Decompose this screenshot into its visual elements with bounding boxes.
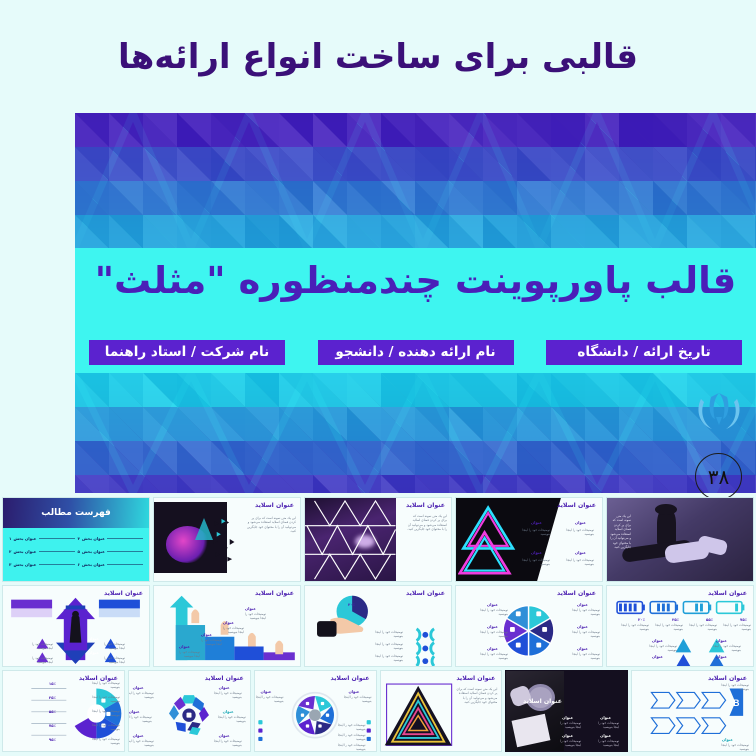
mosaic-triangle — [551, 181, 585, 215]
mosaic-triangle — [143, 475, 177, 493]
mosaic-triangle — [347, 441, 381, 475]
mosaic-triangle — [109, 373, 143, 407]
sub-title: عنوان — [600, 715, 611, 720]
mosaic-triangle — [245, 181, 279, 215]
mosaic-triangle — [381, 475, 415, 493]
sub-title: عنوان — [487, 646, 498, 651]
short-text: توضیحات خود را اینجا بنویسید — [240, 612, 266, 621]
slide-abstract-arrows[interactable]: عنوان اسلاید این یک متن نمونه است که برا… — [153, 497, 301, 582]
step-label: عنوان — [245, 606, 256, 611]
mosaic-triangle — [551, 373, 585, 407]
sub-title: عنوان — [577, 646, 588, 651]
mosaic-triangle — [211, 407, 245, 441]
slide-circle-eight[interactable]: عنوان اسلاید — [128, 670, 251, 752]
arrow-value: ۷۵٪ — [49, 723, 56, 728]
mosaic-triangle — [279, 181, 313, 215]
mosaic-triangle — [415, 181, 449, 215]
mosaic-triangle — [483, 441, 517, 475]
short-text: توضیحات خود را اینجا بنویسید — [478, 652, 508, 661]
short-text: توضیحات خود را اینجا بنویسید — [375, 630, 403, 639]
mosaic-triangle — [143, 147, 177, 181]
sub-title: عنوان — [652, 638, 663, 643]
mosaic-triangle — [245, 475, 279, 493]
short-text: توضیحات خود را اینجا بنویسید — [375, 642, 403, 651]
slide-pie-six[interactable]: عنوان اسلاید عنوان توضیحات خود را اینجا … — [455, 585, 603, 667]
mosaic-triangle — [211, 215, 245, 248]
mosaic-triangle — [347, 475, 381, 493]
mosaic-triangle — [279, 373, 313, 407]
mosaic-triangle — [177, 215, 211, 248]
short-text: توضیحات خود را اینجا بنویسید — [338, 743, 366, 752]
mosaic-triangle — [381, 215, 415, 248]
mosaic-triangle — [619, 147, 653, 181]
short-text: توضیحات خود را اینجا بنویسید — [92, 709, 120, 718]
slide-body-text: این یک متن نمونه است که برای پر کردن فضا… — [453, 687, 497, 705]
mosaic-triangle — [483, 181, 517, 215]
toc-entry: ۲ عنوان بخش — [9, 549, 75, 554]
mosaic-triangle — [381, 113, 415, 147]
slide-arrows-door[interactable]: عنوان اسلاید عنوان — [2, 585, 150, 667]
short-text: توضیحات خود را اینجا بنویسید — [645, 644, 677, 653]
slide-neon-pyramid[interactable]: عنوان اسلاید این یک متن نمونه است که برا… — [380, 670, 503, 752]
mosaic-triangle — [177, 373, 211, 407]
short-text: توضیحات خود را اینجا بنویسید — [721, 683, 749, 692]
sub-title: عنوان — [716, 638, 727, 643]
toc-entry: ۴ عنوان بخش — [78, 536, 144, 541]
mosaic-triangle — [585, 215, 619, 248]
sub-title: عنوان — [652, 654, 663, 659]
sub-title: عنوان — [577, 602, 588, 607]
thumbnail-row-2: عنوان اسلاید — [0, 585, 756, 667]
toc-divider — [39, 538, 75, 539]
mosaic-triangle — [75, 215, 109, 248]
short-text: توضیحات خود را اینجا بنویسید — [555, 739, 581, 748]
toc-number: ۴ — [78, 536, 80, 541]
toc-entry: ۶ عنوان بخش — [78, 562, 144, 567]
mosaic-triangle — [245, 113, 279, 147]
toc-label: عنوان بخش — [82, 536, 105, 541]
short-text: توضیحات خود را اینجا بنویسید — [218, 626, 244, 635]
mosaic-triangle — [483, 373, 517, 407]
toc-number: ۱ — [9, 536, 11, 541]
mosaic-triangle — [313, 475, 347, 493]
sub-title: عنوان — [722, 737, 733, 742]
short-text: توضیحات خود را اینجا بنویسید — [214, 739, 242, 748]
mosaic-triangle — [109, 181, 143, 215]
toc-label: عنوان بخش — [13, 549, 36, 554]
mosaic-triangle — [415, 113, 449, 147]
sub-title: عنوان — [562, 715, 573, 720]
short-text: توضیحات خود را اینجا بنویسید — [520, 558, 550, 567]
sub-title: عنوان — [716, 654, 727, 659]
mosaic-triangle — [245, 407, 279, 441]
toc-number: ۶ — [78, 562, 80, 567]
mosaic-triangle — [211, 181, 245, 215]
mosaic-triangle — [415, 373, 449, 407]
mosaic-triangle — [109, 441, 143, 475]
mosaic-triangle — [517, 147, 551, 181]
toc-divider — [39, 564, 75, 565]
galaxy-triangle-grid — [305, 498, 451, 581]
hero-badge-presenter[interactable]: نام ارائه دهنده / دانشجو — [318, 340, 514, 365]
mosaic-triangle — [347, 113, 381, 147]
sub-title: عنوان — [531, 550, 542, 555]
mosaic-triangle — [177, 147, 211, 181]
mosaic-triangle — [551, 113, 585, 147]
hero-title-strip: قالب پاورپوینت چندمنظوره "مثلث" نام شرکت… — [75, 248, 756, 373]
sub-title: عنوان — [348, 689, 359, 694]
toc-number: ۵ — [78, 549, 80, 554]
mosaic-triangle — [619, 441, 653, 475]
arrow-value: ۵۵٪ — [49, 709, 56, 714]
percent-value: ۳۰٪ — [348, 602, 355, 607]
slide-count-badge: ۳۸ — [695, 453, 742, 500]
short-text: توضیحات خود را اینجا بنویسید — [218, 715, 246, 724]
step-label: عنوان — [223, 620, 234, 625]
mosaic-triangle — [75, 147, 109, 181]
mosaic-triangle — [585, 147, 619, 181]
mosaic-triangle — [619, 181, 653, 215]
short-text: توضیحات خود را اینجا بنویسید — [570, 630, 600, 639]
mosaic-triangle — [585, 373, 619, 407]
short-text: توضیحات خود را اینجا بنویسید — [619, 623, 649, 632]
short-text: توضیحات خود را اینجا بنویسید — [721, 623, 751, 632]
sub-title: عنوان — [260, 689, 271, 694]
mosaic-triangle — [347, 373, 381, 407]
short-text: توضیحات خود را اینجا بنویسید — [478, 608, 508, 617]
mosaic-triangle — [313, 441, 347, 475]
mosaic-triangle — [619, 475, 653, 493]
slide-chess-photo[interactable]: این یک متن نمونه است که برای پر کردن فضا… — [606, 497, 754, 582]
mosaic-triangle — [75, 407, 109, 441]
mosaic-triangle — [279, 215, 313, 248]
mosaic-triangle — [109, 475, 143, 493]
mosaic-triangle — [449, 407, 483, 441]
short-text: توضیحات خود را اینجا بنویسید — [721, 743, 749, 752]
toc-label: عنوان بخش — [82, 549, 105, 554]
short-text: توضیحات خود را اینجا بنویسید — [593, 721, 619, 730]
step-label: عنوان — [179, 644, 190, 649]
short-text: توضیحات خود را اینجا بنویسید — [29, 642, 53, 651]
mosaic-triangle — [313, 373, 347, 407]
short-text: توضیحات خود را اینجا بنویسید — [128, 739, 154, 748]
short-text: توضیحات خود را اینجا بنویسید — [128, 715, 152, 724]
short-text: توضیحات خود را اینجا بنویسید — [564, 558, 594, 567]
short-text: توضیحات خود را اینجا بنویسید — [593, 739, 619, 748]
butterfly-wings-icon — [692, 385, 746, 435]
mosaic-triangle — [279, 407, 313, 441]
short-text: توضیحات خود را اینجا بنویسید — [92, 723, 120, 732]
thumbnail-grid: این یک متن نمونه است که برای پر کردن فضا… — [0, 495, 756, 756]
slide-title: عنوان اسلاید — [406, 502, 445, 509]
short-text: توضیحات خود را اینجا بنویسید — [375, 654, 403, 663]
mosaic-triangle — [585, 113, 619, 147]
mosaic-triangle — [517, 113, 551, 147]
toc-entry: ۵ عنوان بخش — [78, 549, 144, 554]
mosaic-triangle — [177, 113, 211, 147]
mosaic-triangle — [347, 215, 381, 248]
mosaic-triangle — [449, 113, 483, 147]
battery-value: ۵۵٪ — [706, 617, 713, 622]
mosaic-triangle — [619, 113, 653, 147]
mosaic-triangle — [619, 373, 653, 407]
mosaic-triangle — [585, 181, 619, 215]
abstract-arrow-art — [154, 498, 300, 581]
toc-divider — [107, 564, 143, 565]
battery-value: ۳۵٪ — [672, 617, 679, 622]
short-text: توضیحات خود را اینجا بنویسید — [653, 623, 683, 632]
short-text: توضیحات خود را اینجا بنویسید — [101, 642, 125, 651]
mosaic-triangle — [279, 113, 313, 147]
mosaic-triangle — [279, 147, 313, 181]
short-text: توضیحات خود را اینجا بنویسید — [478, 630, 508, 639]
short-text: توضیحات خود را اینجا بنویسید — [101, 656, 125, 665]
sub-title: عنوان — [219, 685, 230, 690]
mosaic-triangle — [143, 113, 177, 147]
mosaic-triangle — [551, 475, 585, 493]
mosaic-triangle — [517, 373, 551, 407]
mosaic-triangle — [551, 147, 585, 181]
toc-label: عنوان بخش — [13, 562, 36, 567]
sub-title: عنوان — [487, 602, 498, 607]
hero-banner: قالب پاورپوینت چندمنظوره "مثلث" نام شرکت… — [75, 113, 756, 493]
mosaic-triangle — [381, 181, 415, 215]
slide-body-text: این یک متن نمونه است که برای پر کردن فضا… — [609, 514, 631, 550]
toc-row[interactable]: ۱ عنوان بخش ۴ عنوان بخش — [9, 532, 143, 545]
mosaic-triangle — [313, 215, 347, 248]
short-text: توضیحات خود را اینجا بنویسید — [570, 608, 600, 617]
arrow-door-infographic — [3, 586, 149, 666]
mosaic-triangle — [415, 215, 449, 248]
mosaic-triangle — [449, 373, 483, 407]
arrow-value: ۱۵٪ — [49, 681, 56, 686]
mosaic-triangle — [619, 215, 653, 248]
mosaic-triangle — [143, 373, 177, 407]
short-text: توضیحات خود را اینجا بنویسید — [520, 528, 550, 537]
sub-title: عنوان — [600, 733, 611, 738]
toc-body: ۱ عنوان بخش ۴ عنوان بخش ۲ عنوان بخش — [3, 528, 149, 581]
mosaic-triangle — [619, 407, 653, 441]
slide-battery-meters[interactable]: عنوان اسلاید — [606, 585, 754, 667]
slide-title: عنوان اسلاید — [255, 502, 294, 509]
mosaic-triangle — [381, 147, 415, 181]
mosaic-triangle — [75, 475, 109, 493]
short-text: توضیحات خود را اینجا بنویسید — [555, 721, 581, 730]
mosaic-triangle — [177, 407, 211, 441]
mosaic-triangle — [449, 181, 483, 215]
mosaic-triangle — [143, 441, 177, 475]
mosaic-triangle — [279, 475, 313, 493]
mosaic-triangle — [381, 441, 415, 475]
hero-title: قالب پاورپوینت چندمنظوره "مثلث" — [95, 258, 737, 304]
short-text: توضیحات خود را اینجا بنویسید — [174, 650, 200, 659]
mosaic-triangle — [347, 407, 381, 441]
mosaic-triangle — [517, 215, 551, 248]
toc-label: عنوان بخش — [82, 562, 105, 567]
mosaic-triangle — [585, 475, 619, 493]
mosaic-triangle — [517, 181, 551, 215]
hero-badge-company[interactable]: نام شرکت / استاد راهنما — [89, 340, 285, 365]
mosaic-triangle — [109, 113, 143, 147]
mosaic-triangle — [279, 441, 313, 475]
short-text: توضیحات خود را اینجا بنویسید — [196, 638, 222, 647]
mosaic-triangle — [245, 147, 279, 181]
short-text: توضیحات خود را اینجا بنویسید — [564, 528, 594, 537]
mosaic-triangle — [415, 475, 449, 493]
mosaic-triangle — [449, 475, 483, 493]
hero-badge-group: نام شرکت / استاد راهنما نام ارائه دهنده … — [89, 340, 742, 365]
toc-divider — [107, 551, 143, 552]
toc-header: فهرست مطالب — [3, 498, 149, 528]
mosaic-triangle — [449, 215, 483, 248]
mosaic-triangle — [449, 441, 483, 475]
short-text: توضیحات خود را اینجا بنویسید — [570, 652, 600, 661]
mosaic-triangle — [177, 441, 211, 475]
slide-arrow-list[interactable]: عنوان اسلاید ۱۵٪ ۳۵٪ — [2, 670, 125, 752]
toc-entry: ۱ عنوان بخش — [9, 536, 75, 541]
sub-title: عنوان — [129, 709, 140, 714]
mosaic-triangle — [415, 441, 449, 475]
hero-pattern-bottom — [75, 373, 756, 493]
page-header: قالبی برای ساخت انواع ارائه‌ها — [0, 0, 756, 113]
slide-dark-photo[interactable]: عنوان اسلاید عنوان عنوان عنوان عنوان توض… — [505, 670, 628, 752]
slide-title: عنوان اسلاید — [523, 698, 562, 705]
mosaic-triangle — [483, 475, 517, 493]
toc-row[interactable]: ۳ عنوان بخش ۶ عنوان بخش — [9, 558, 143, 571]
sub-title: عنوان — [88, 636, 99, 641]
sub-title: عنوان — [577, 624, 588, 629]
short-text: توضیحات خود را اینجا بنویسید — [709, 644, 741, 653]
sub-title: عنوان — [575, 550, 586, 555]
mosaic-triangle — [143, 407, 177, 441]
battery-value: ۷۵٪ — [740, 617, 747, 622]
mosaic-triangle — [143, 215, 177, 248]
slide-galaxy-grid[interactable]: عنوان اسلاید این یک متن نمونه است که برا… — [304, 497, 452, 582]
mosaic-triangle — [177, 181, 211, 215]
mosaic-triangle — [585, 441, 619, 475]
sub-title: عنوان — [531, 520, 542, 525]
short-text: توضیحات خود را اینجا بنویسید — [29, 656, 53, 665]
toc-entry: ۳ عنوان بخش — [9, 562, 75, 567]
mosaic-triangle — [211, 475, 245, 493]
svg-text:B: B — [733, 698, 739, 708]
slide-chevron-flow[interactable]: عنوان اسلاید B عنوان توضیحات خود را — [631, 670, 754, 752]
mosaic-triangle — [75, 113, 109, 147]
arrow-value: ۹۵٪ — [49, 737, 56, 742]
short-text: توضیحات خود را اینجا بنویسید — [687, 623, 717, 632]
mosaic-triangle — [347, 147, 381, 181]
mosaic-triangle — [517, 475, 551, 493]
short-text: توضیحات خود را اینجا بنویسید — [214, 691, 242, 700]
mosaic-triangle — [551, 407, 585, 441]
mosaic-triangle — [517, 441, 551, 475]
toc-row[interactable]: ۲ عنوان بخش ۵ عنوان بخش — [9, 545, 143, 558]
mosaic-triangle — [381, 407, 415, 441]
mosaic-triangle — [313, 147, 347, 181]
slide-title: عنوان اسلاید — [557, 502, 596, 509]
sub-title: عنوان — [88, 650, 99, 655]
mosaic-triangle — [109, 215, 143, 248]
hero-pattern-top — [75, 113, 756, 248]
battery-value: ۲۰٪ — [638, 617, 645, 622]
slide-circle-petals[interactable]: عنوان اسلاید — [254, 670, 377, 752]
short-text: توضیحات خود را اینجا بنویسید — [338, 733, 366, 742]
mosaic-triangle — [177, 475, 211, 493]
toc-divider — [107, 538, 143, 539]
toc-divider — [39, 551, 75, 552]
toc-number: ۲ — [9, 549, 11, 554]
mosaic-triangle — [415, 407, 449, 441]
sub-title: عنوان — [487, 624, 498, 629]
mosaic-triangle — [75, 441, 109, 475]
slide-count-value: ۳۸ — [708, 465, 729, 489]
thumbnail-row-1: این یک متن نمونه است که برای پر کردن فضا… — [0, 497, 756, 582]
mosaic-triangle — [347, 181, 381, 215]
step-label: عنوان — [201, 632, 212, 637]
short-text: توضیحات خود را اینجا بنویسید — [128, 691, 154, 700]
mosaic-triangle — [483, 147, 517, 181]
mosaic-triangle — [245, 215, 279, 248]
sub-title: عنوان — [133, 685, 144, 690]
mosaic-triangle — [75, 181, 109, 215]
mosaic-triangle — [109, 147, 143, 181]
mosaic-triangle — [449, 147, 483, 181]
mosaic-triangle — [211, 113, 245, 147]
mosaic-triangle — [313, 113, 347, 147]
sub-title: عنوان — [575, 520, 586, 525]
mosaic-triangle — [245, 373, 279, 407]
short-text: توضیحات خود را اینجا بنویسید — [256, 695, 284, 704]
mosaic-triangle — [211, 373, 245, 407]
short-text: توضیحات خود را اینجا بنویسید — [338, 723, 366, 732]
toc-title: فهرست مطالب — [41, 508, 111, 518]
sub-title: عنوان — [223, 709, 234, 714]
neon-pyramid-art — [381, 671, 502, 751]
mosaic-triangle — [483, 113, 517, 147]
slide-body-text: این یک متن نمونه است که برای پر کردن فضا… — [246, 516, 296, 534]
mosaic-triangle — [483, 407, 517, 441]
mosaic-triangle — [313, 181, 347, 215]
page-title: قالبی برای ساخت انواع ارائه‌ها — [118, 37, 638, 77]
mosaic-triangle — [415, 147, 449, 181]
mosaic-triangle — [551, 441, 585, 475]
short-text: توضیحات خود را اینجا بنویسید — [344, 695, 372, 704]
mosaic-triangle — [313, 407, 347, 441]
sub-title: عنوان — [219, 733, 230, 738]
toc-number: ۳ — [9, 562, 11, 567]
mosaic-triangle — [517, 407, 551, 441]
slide-table-of-contents[interactable]: فهرست مطالب ۱ عنوان بخش ۴ عنوان بخش — [2, 497, 150, 582]
slide-neon-triangles[interactable]: عنوان اسلاید عنوان توضیحات خود را اینجا … — [455, 497, 603, 582]
neon-triangle-art — [456, 498, 602, 581]
mosaic-triangle — [143, 181, 177, 215]
mosaic-triangle — [381, 373, 415, 407]
thumbnail-row-3: عنوان اسلاید B عنوان توضیحات خود را — [0, 670, 756, 752]
slide-body-text: این یک متن نمونه است که برای پر کردن فضا… — [407, 514, 447, 532]
mosaic-triangle — [245, 441, 279, 475]
sub-title: عنوان — [562, 733, 573, 738]
sub-title: عنوان — [133, 733, 144, 738]
mosaic-triangle — [585, 407, 619, 441]
toc-label: عنوان بخش — [13, 536, 36, 541]
arrow-value: ۳۵٪ — [49, 695, 56, 700]
mosaic-triangle — [211, 441, 245, 475]
slide-hand-donut[interactable]: عنوان اسلاید ۳۰٪ توضیحات خود را اینجا بن — [304, 585, 452, 667]
slide-stairs[interactable]: عنوان اسلاید عنوان عنوان عنوان عنوان — [153, 585, 301, 667]
mosaic-triangle — [75, 373, 109, 407]
short-text: توضیحات خود را اینجا بنویسید — [92, 681, 120, 690]
short-text: توضیحات خود را اینجا بنویسید — [92, 737, 120, 746]
